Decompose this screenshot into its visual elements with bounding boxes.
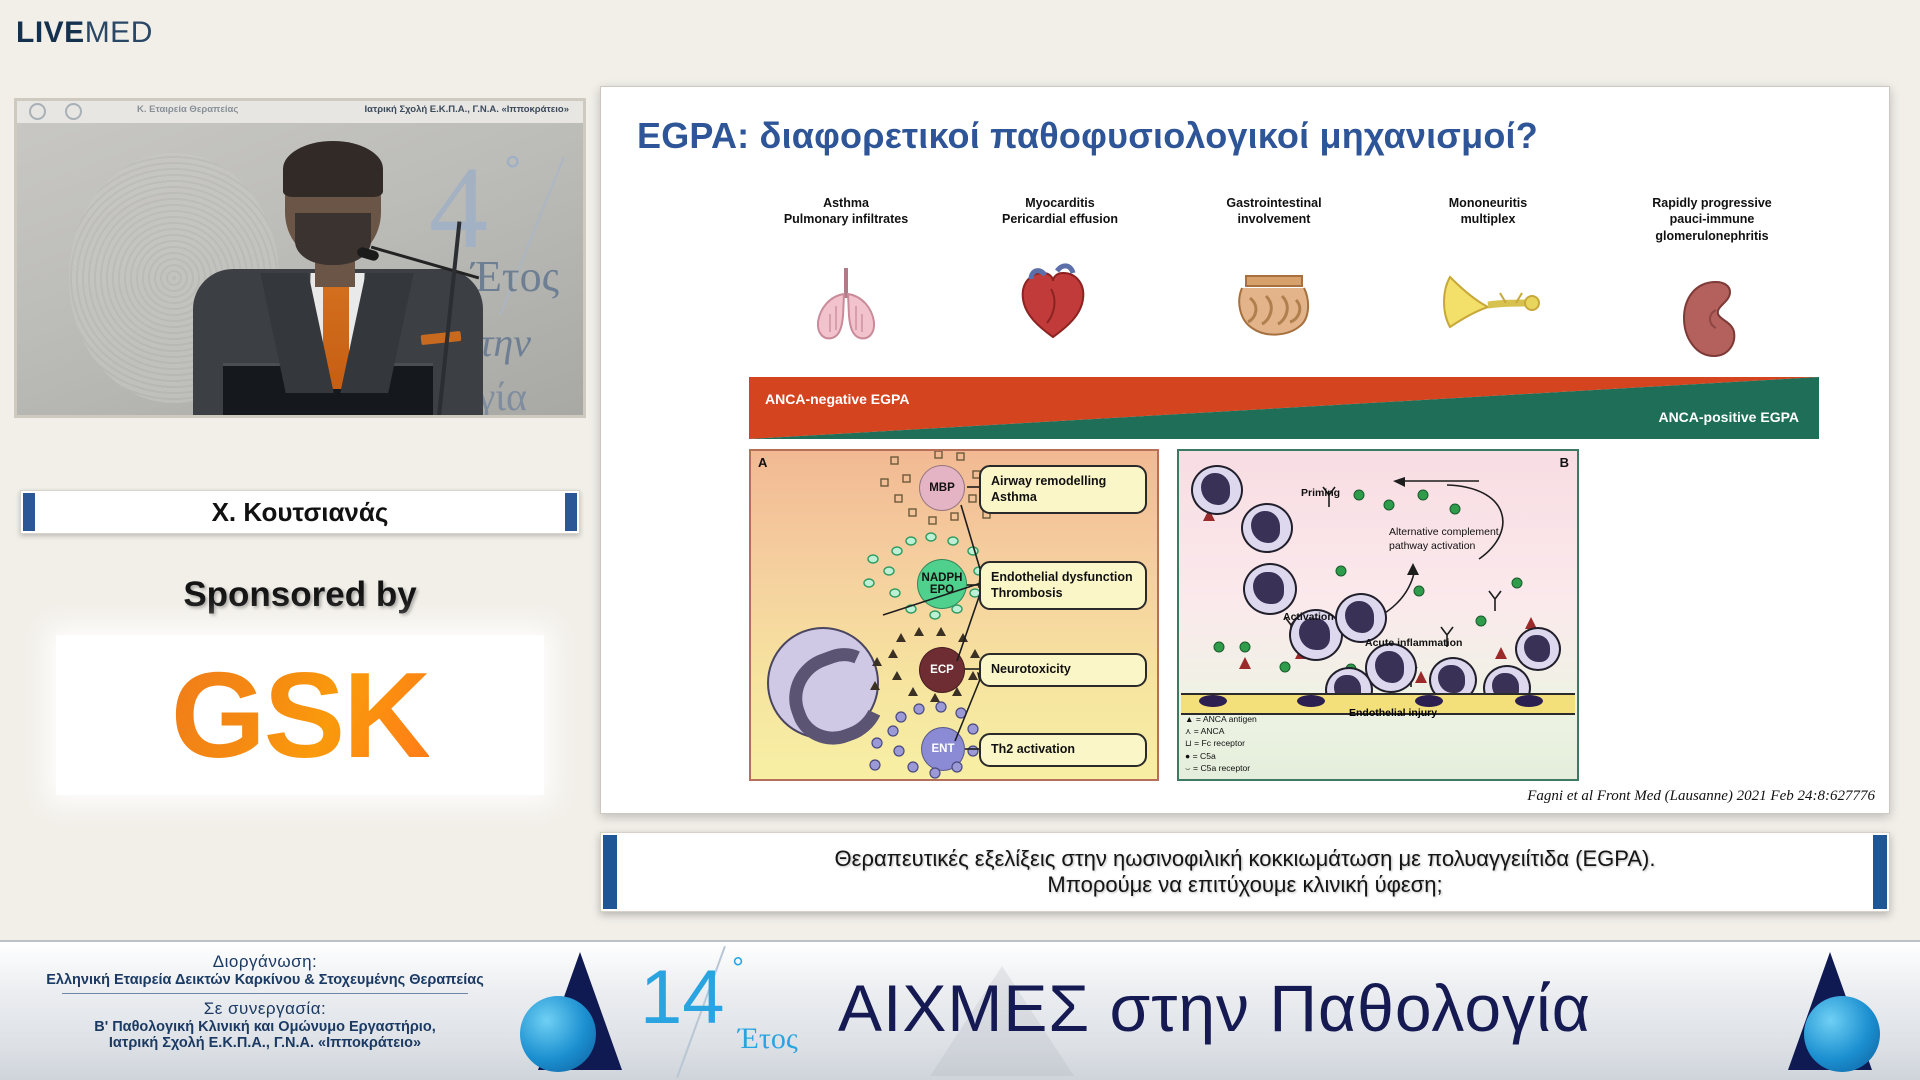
legend-label: = Fc receptor xyxy=(1194,738,1245,748)
organ-label-line2: pauci-immune xyxy=(1617,211,1807,227)
outcome-airway-remodelling: Airway remodelling Asthma xyxy=(979,465,1147,514)
legend-label: = ANCA xyxy=(1194,726,1225,736)
heart-icon xyxy=(965,253,1155,353)
emblem-globe-icon xyxy=(1804,996,1880,1072)
organ-label-gastrointestinal: Gastrointestinal involvement xyxy=(1179,195,1369,228)
backdrop-etos-text: Έτος xyxy=(471,251,559,302)
organ-label-line1: Mononeuritis xyxy=(1393,195,1583,211)
legend-row: ● = C5a xyxy=(1185,750,1257,762)
legend-label: = ANCA antigen xyxy=(1196,714,1257,724)
session-caption-bar: Θεραπευτικές εξελίξεις στην ηωσινοφιλική… xyxy=(600,832,1890,912)
organ-label-line1: Gastrointestinal xyxy=(1179,195,1369,211)
acute-inflammation-label: Acute inflammation xyxy=(1365,637,1462,649)
organ-label-line1: Rapidly progressive xyxy=(1617,195,1807,211)
video-overlay-header: Κ. Εταιρεία Θεραπείας Ιατρική Σχολή Ε.Κ.… xyxy=(17,101,583,123)
cooperation-body-2: Ιατρική Σχολή Ε.Κ.Π.Α., Γ.Ν.Α. «Ιπποκράτ… xyxy=(30,1035,500,1051)
organ-label-line3: glomerulonephritis xyxy=(1617,228,1807,244)
seal-icon-right xyxy=(65,103,82,120)
speaker-name-bar: Χ. Κουτσιανάς xyxy=(20,490,580,534)
edition-etos-label: Έτος xyxy=(738,1022,798,1056)
cooperation-body-1: Β' Παθολογική Κλινική και Ομώνυμο Εργαστ… xyxy=(30,1019,500,1035)
footer-divider xyxy=(62,993,468,994)
organ-label-line1: Myocarditis xyxy=(965,195,1155,211)
intestine-icon xyxy=(1179,253,1369,353)
c5a-icon: ● xyxy=(1185,751,1190,761)
priming-label: Priming xyxy=(1301,487,1340,499)
edition-number: 14 xyxy=(640,960,725,1036)
speaker-name: Χ. Κουτσιανάς xyxy=(212,497,389,528)
logo-live-text: LIVE xyxy=(16,16,85,49)
speaker-video[interactable]: 4 ° Έτος Σ στην λογία Κ. Εταιρεία Θεραπε… xyxy=(14,98,586,418)
footer-bar: Διοργάνωση: Ελληνική Εταιρεία Δεικτών Κα… xyxy=(0,940,1920,1080)
organ-label-glomerulonephritis: Rapidly progressive pauci-immune glomeru… xyxy=(1617,195,1807,244)
nerve-icon xyxy=(1393,253,1583,353)
organ-label-line2: multiplex xyxy=(1393,211,1583,227)
seal-icon-left xyxy=(29,103,46,120)
top-bar: LIVEMED xyxy=(0,0,1920,70)
organ-label-line2: involvement xyxy=(1179,211,1369,227)
outcome-endothelial-dysfunction: Endothelial dysfunction Thrombosis xyxy=(979,561,1147,610)
congress-emblem-left xyxy=(520,952,638,1074)
panel-a: A MBP NADPH EPO ECP ENT xyxy=(749,449,1159,781)
organ-label-line2: Pulmonary infiltrates xyxy=(751,211,941,227)
speaker-beard xyxy=(295,213,371,265)
anca-gradient-bar: ANCA-negative EGPA ANCA-positive EGPA xyxy=(749,377,1819,439)
sponsor-logo-gsk[interactable]: GSK xyxy=(56,635,544,795)
legend-row: ▲ = ANCA antigen xyxy=(1185,713,1257,725)
neutrophil-cell xyxy=(1241,503,1293,553)
outcome-neurotoxicity: Neurotoxicity xyxy=(979,653,1147,687)
c5a-receptor-icon: ⌣ xyxy=(1185,763,1191,773)
anca-icon: ⋏ xyxy=(1185,726,1191,736)
activation-label: Activation xyxy=(1283,611,1334,623)
organ-label-line2: Pericardial effusion xyxy=(965,211,1155,227)
slide-citation: Fagni et al Front Med (Lausanne) 2021 Fe… xyxy=(1527,788,1875,805)
emblem-globe-icon xyxy=(520,996,596,1072)
anca-negative-label: ANCA-negative EGPA xyxy=(765,391,909,407)
anca-positive-label: ANCA-positive EGPA xyxy=(1658,409,1799,425)
slide-title: EGPA: διαφορετικοί παθοφυσιολογικοί μηχα… xyxy=(637,115,1538,157)
organ-label-asthma: Asthma Pulmonary infiltrates xyxy=(751,195,941,228)
event-title: ΑΙΧΜΕΣ στην Παθολογία xyxy=(838,970,1591,1046)
legend-row: ⌣ = C5a receptor xyxy=(1185,762,1257,774)
caption-line-2: Μπορούμε να επιτύχουμε κλινική ύφεση; xyxy=(1047,872,1442,898)
organ-label-line1: Asthma xyxy=(751,195,941,211)
lungs-icon xyxy=(751,253,941,353)
overlay-right-text: Ιατρική Σχολή Ε.Κ.Π.Α., Γ.Ν.Α. «Ιπποκράτ… xyxy=(364,104,569,115)
legend-row: ⊔ = Fc receptor xyxy=(1185,737,1257,749)
neutrophil-cell xyxy=(1191,465,1243,515)
backdrop-degree-symbol: ° xyxy=(504,147,521,195)
legend-label: = C5a receptor xyxy=(1193,763,1250,773)
organizer-body: Ελληνική Εταιρεία Δεικτών Καρκίνου & Στο… xyxy=(30,972,500,988)
organizer-heading: Διοργάνωση: xyxy=(30,952,500,972)
fc-receptor-icon: ⊔ xyxy=(1185,738,1192,748)
speaker-hair xyxy=(283,141,383,197)
neutrophil-cell xyxy=(1515,627,1561,671)
cooperation-heading: Σε συνεργασία: xyxy=(30,999,500,1019)
organ-label-myocarditis: Myocarditis Pericardial effusion xyxy=(965,195,1155,228)
presentation-slide[interactable]: EGPA: διαφορετικοί παθοφυσιολογικοί μηχα… xyxy=(600,86,1890,814)
organ-manifestations-row: Asthma Pulmonary infiltrates Myocarditis… xyxy=(751,195,1811,255)
neutrophil-cell xyxy=(1243,563,1297,615)
neutrophil-cell xyxy=(1365,643,1417,693)
outcome-th2-activation: Th2 activation xyxy=(979,733,1147,767)
alternative-complement-label: Alternative complement pathway activatio… xyxy=(1389,525,1529,553)
gsk-logo-text: GSK xyxy=(171,654,429,776)
panel-b-legend: ▲ = ANCA antigen ⋏ = ANCA ⊔ = Fc recepto… xyxy=(1185,713,1257,774)
congress-branding: 14 ° Έτος ΑΙΧΜΕΣ στην Παθολογία xyxy=(640,948,1640,1078)
caption-line-1: Θεραπευτικές εξελίξεις στην ηωσινοφιλική… xyxy=(835,846,1656,872)
footer-organizers: Διοργάνωση: Ελληνική Εταιρεία Δεικτών Κα… xyxy=(30,952,500,1051)
legend-label: = C5a xyxy=(1193,751,1216,761)
overlay-left-text: Κ. Εταιρεία Θεραπείας xyxy=(137,104,238,115)
endothelial-injury-label: Endothelial injury xyxy=(1349,707,1437,719)
organ-label-mononeuritis: Mononeuritis multiplex xyxy=(1393,195,1583,228)
left-column: 4 ° Έτος Σ στην λογία Κ. Εταιρεία Θεραπε… xyxy=(0,70,600,940)
congress-emblem-right xyxy=(1770,952,1888,1074)
neutrophil-cell xyxy=(1335,593,1387,643)
legend-row: ⋏ = ANCA xyxy=(1185,725,1257,737)
kidney-icon xyxy=(1617,269,1807,369)
panel-b: B xyxy=(1177,449,1579,781)
edition-degree-symbol: ° xyxy=(732,952,744,986)
logo-med-text: MED xyxy=(85,16,153,49)
livemed-logo[interactable]: LIVEMED xyxy=(16,16,153,50)
sponsored-by-label: Sponsored by xyxy=(0,575,600,615)
anca-antigen-icon: ▲ xyxy=(1185,714,1194,724)
